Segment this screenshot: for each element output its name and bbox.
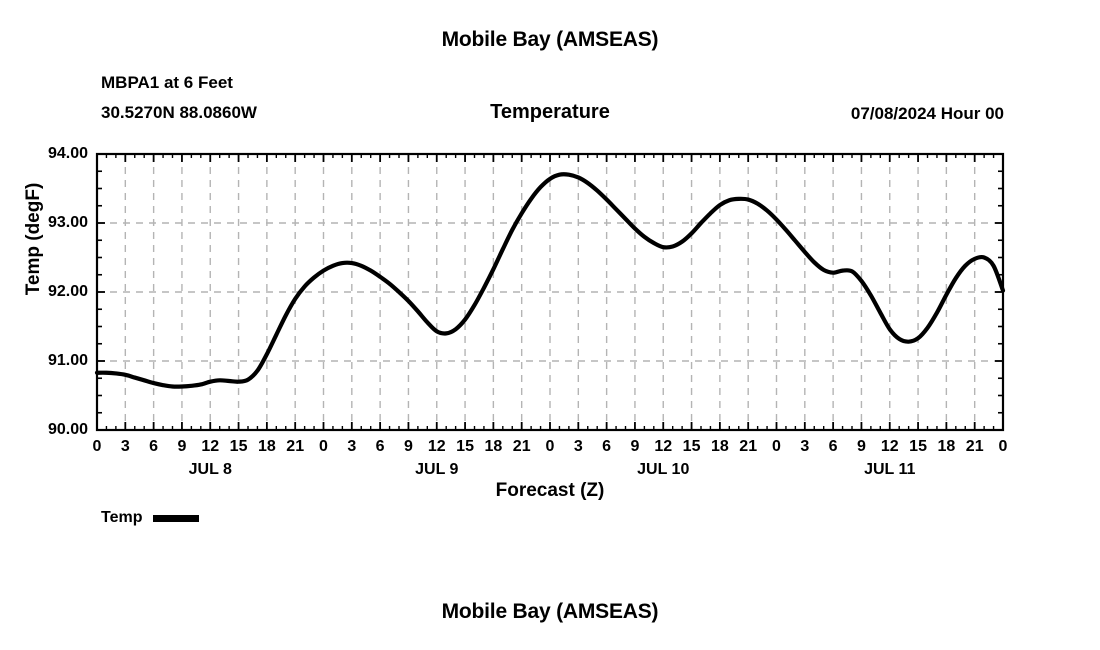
x-tick-label: 9 bbox=[630, 438, 639, 456]
x-axis-day-label: JUL 11 bbox=[864, 461, 915, 479]
x-tick-label: 0 bbox=[772, 438, 781, 456]
x-tick-label: 12 bbox=[201, 438, 219, 456]
x-tick-label: 15 bbox=[683, 438, 701, 456]
x-tick-label: 6 bbox=[376, 438, 385, 456]
legend: Temp bbox=[101, 509, 199, 527]
x-tick-label: 3 bbox=[347, 438, 356, 456]
x-tick-label: 18 bbox=[937, 438, 955, 456]
x-tick-label: 0 bbox=[546, 438, 555, 456]
x-tick-label: 0 bbox=[999, 438, 1008, 456]
x-tick-label: 6 bbox=[829, 438, 838, 456]
x-axis-day-label: JUL 9 bbox=[415, 461, 458, 479]
y-tick-label: 90.00 bbox=[48, 421, 88, 439]
legend-label: Temp bbox=[101, 509, 142, 527]
x-tick-label: 0 bbox=[93, 438, 102, 456]
x-tick-label: 12 bbox=[881, 438, 899, 456]
x-tick-label: 12 bbox=[428, 438, 446, 456]
y-tick-label: 91.00 bbox=[48, 352, 88, 370]
x-tick-label: 6 bbox=[602, 438, 611, 456]
x-tick-label: 6 bbox=[149, 438, 158, 456]
x-tick-label: 3 bbox=[800, 438, 809, 456]
x-tick-label: 15 bbox=[230, 438, 248, 456]
x-tick-label: 18 bbox=[711, 438, 729, 456]
plot-canvas bbox=[0, 0, 1100, 650]
y-tick-label: 93.00 bbox=[48, 214, 88, 232]
y-tick-label: 92.00 bbox=[48, 283, 88, 301]
x-tick-label: 15 bbox=[909, 438, 927, 456]
x-tick-label: 3 bbox=[121, 438, 130, 456]
x-tick-label: 21 bbox=[739, 438, 757, 456]
x-tick-label: 18 bbox=[484, 438, 502, 456]
x-tick-label: 18 bbox=[258, 438, 276, 456]
chart-page: Mobile Bay (AMSEAS) MBPA1 at 6 Feet 30.5… bbox=[0, 0, 1100, 650]
x-tick-label: 21 bbox=[286, 438, 304, 456]
x-axis-day-label: JUL 10 bbox=[637, 461, 689, 479]
legend-line-swatch bbox=[153, 515, 199, 522]
x-tick-label: 21 bbox=[513, 438, 531, 456]
x-tick-label: 12 bbox=[654, 438, 672, 456]
page-title-bottom: Mobile Bay (AMSEAS) bbox=[0, 600, 1100, 624]
y-tick-label: 94.00 bbox=[48, 145, 88, 163]
x-tick-label: 9 bbox=[404, 438, 413, 456]
x-tick-label: 21 bbox=[966, 438, 984, 456]
x-tick-label: 3 bbox=[574, 438, 583, 456]
x-tick-label: 0 bbox=[319, 438, 328, 456]
x-tick-label: 9 bbox=[177, 438, 186, 456]
x-axis-day-label: JUL 8 bbox=[189, 461, 232, 479]
x-tick-label: 9 bbox=[857, 438, 866, 456]
x-tick-label: 15 bbox=[456, 438, 474, 456]
